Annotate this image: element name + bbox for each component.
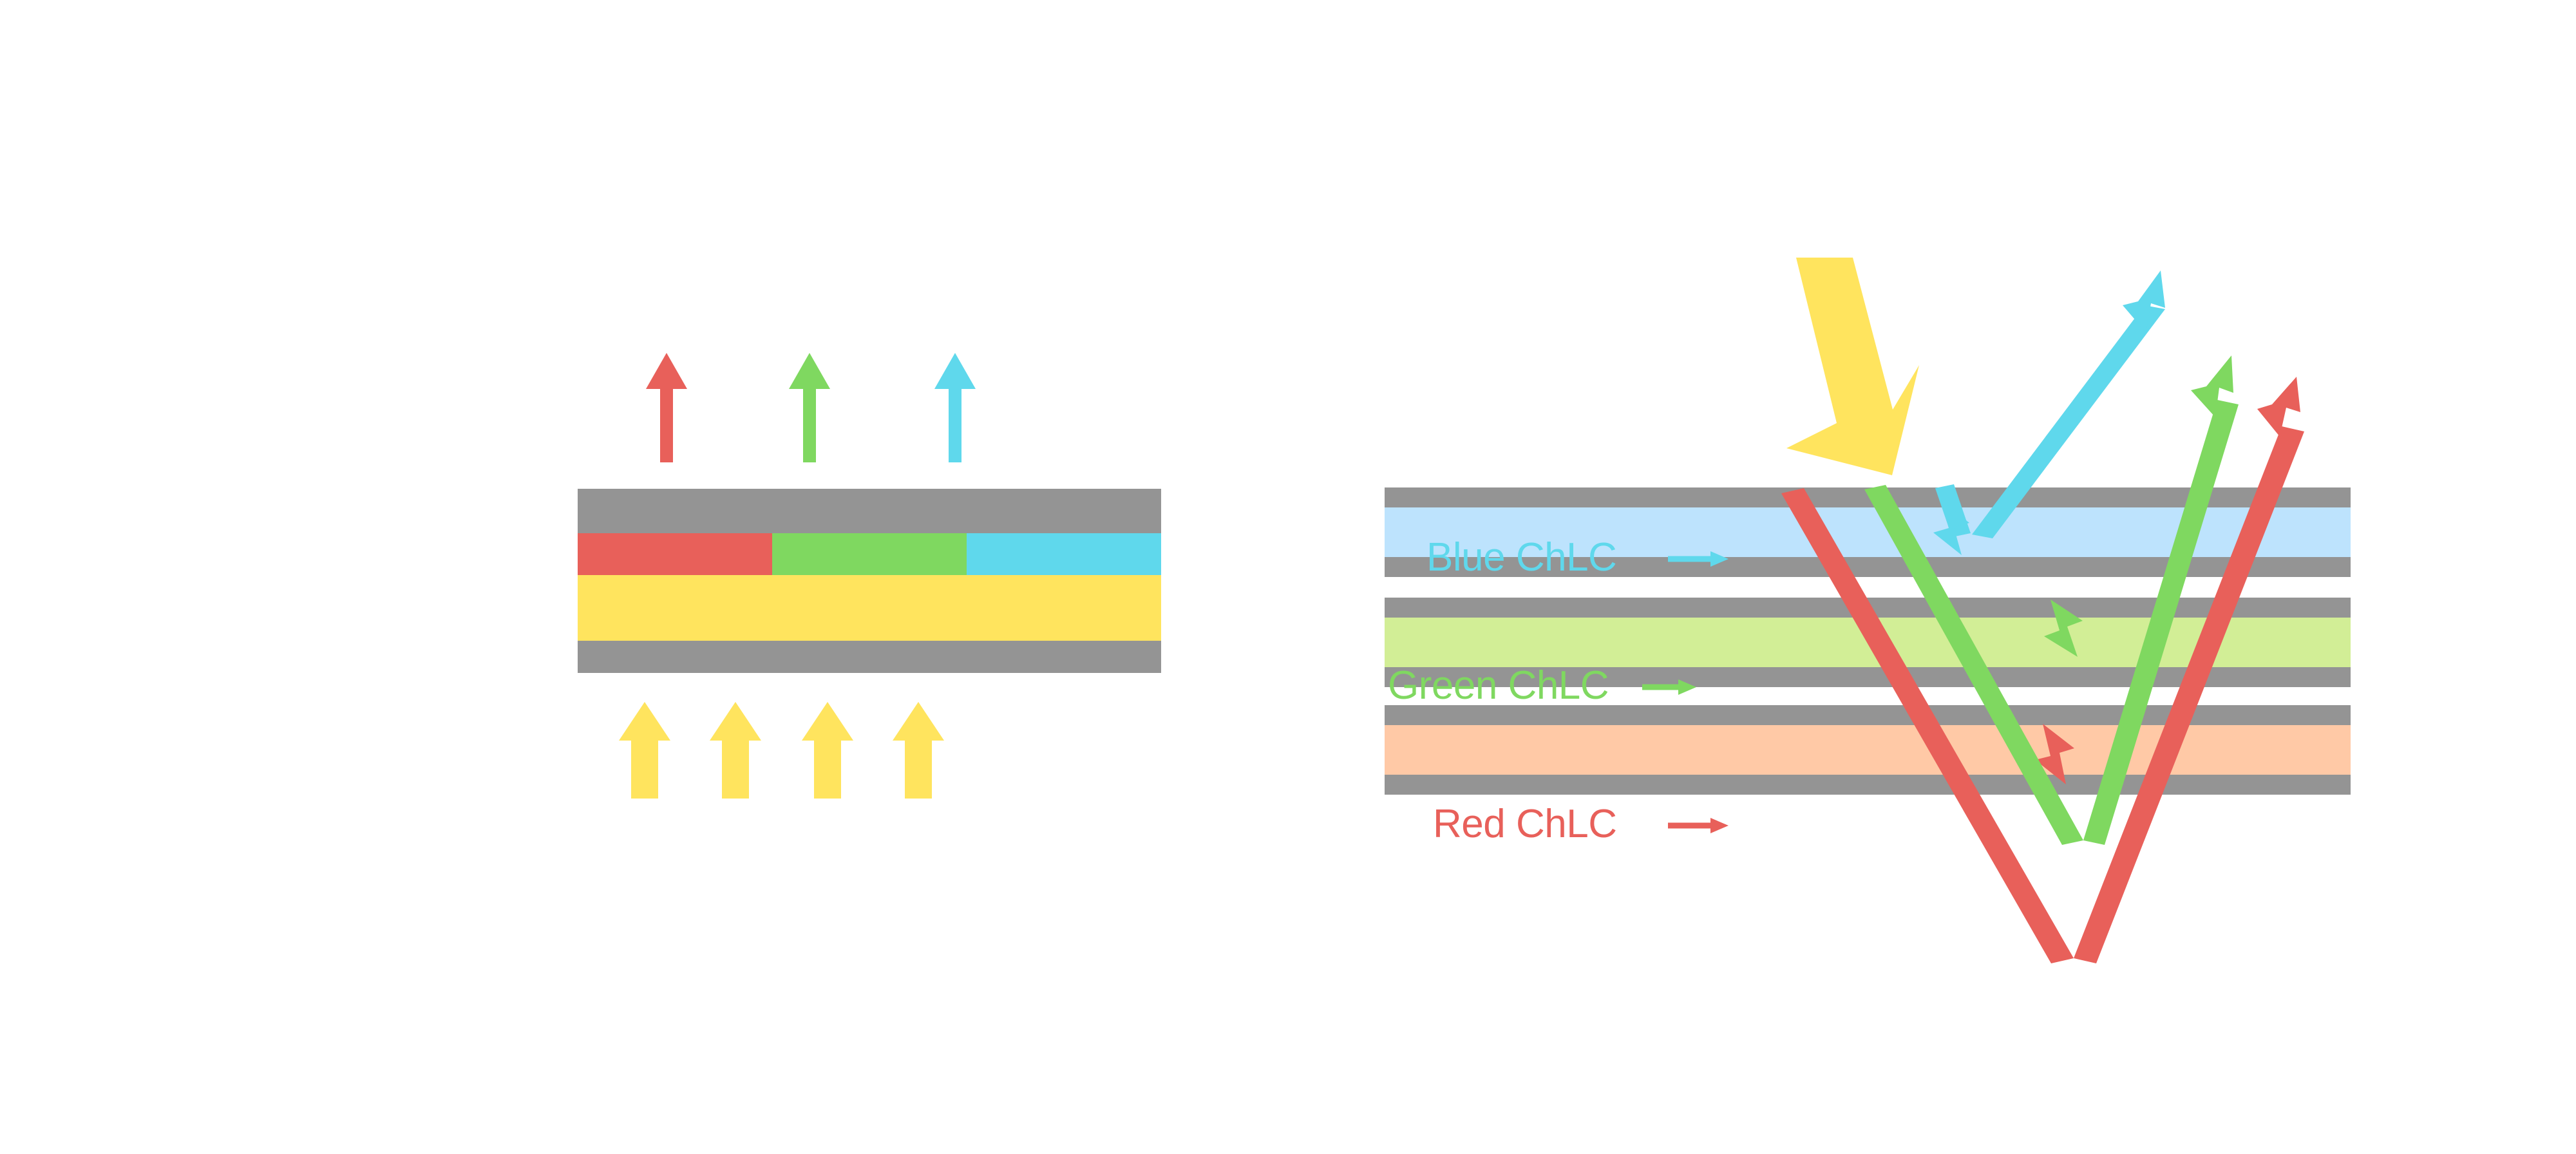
- cell-blue-glass-top: [1385, 487, 2351, 507]
- cell-green-glass-top: [1385, 598, 2351, 618]
- backlight-arrow-2: [710, 702, 761, 799]
- label-blue-chlc-text: Blue ChLC: [1426, 535, 1616, 580]
- left-backlight-layer: [578, 575, 1161, 641]
- backlight-arrow-4: [893, 702, 944, 799]
- label-blue-chlc: Blue ChLC: [1426, 538, 1616, 578]
- label-green-chlc: Green ChLC: [1388, 666, 1609, 706]
- emissive-stack-panel: [578, 348, 1161, 811]
- label-red-arrow-icon: [1668, 818, 1728, 833]
- label-red-chlc-text: Red ChLC: [1433, 802, 1616, 846]
- backlight-arrow-1: [619, 702, 670, 799]
- color-filter-green-segment: [772, 533, 967, 575]
- ambient-light-arrow: [1786, 258, 1919, 475]
- emit-cyan-arrow: [934, 353, 976, 462]
- label-red-chlc: Red ChLC: [1433, 804, 1616, 844]
- emissive-layer-stack: [578, 489, 1161, 673]
- ray-cyan-arrowhead-out: [2123, 270, 2165, 332]
- color-filter-blue-segment: [967, 533, 1161, 575]
- chlc-reflective-panel: Blue ChLC Green ChLC Red ChLC: [1385, 277, 2351, 805]
- color-filter-red-segment: [578, 533, 772, 575]
- ray-green-arrowhead-out: [2191, 355, 2233, 417]
- emit-red-arrow: [646, 353, 687, 462]
- chlc-cell-red: [1385, 705, 2351, 795]
- cell-red-lc-layer: [1385, 725, 2351, 775]
- diagram-canvas: Blue ChLC Green ChLC Red ChLC: [0, 0, 2576, 1154]
- left-glass-bottom: [578, 641, 1161, 673]
- cell-red-glass-bottom: [1385, 775, 2351, 795]
- ray-red-arrowhead-out: [2257, 377, 2300, 437]
- cell-red-glass-top: [1385, 705, 2351, 725]
- backlight-arrow-3: [802, 702, 853, 799]
- left-glass-top: [578, 489, 1161, 533]
- cell-green-lc-layer: [1385, 618, 2351, 667]
- left-color-filter-row: [578, 533, 1161, 575]
- label-green-chlc-text: Green ChLC: [1388, 663, 1609, 708]
- emit-green-arrow: [789, 353, 830, 462]
